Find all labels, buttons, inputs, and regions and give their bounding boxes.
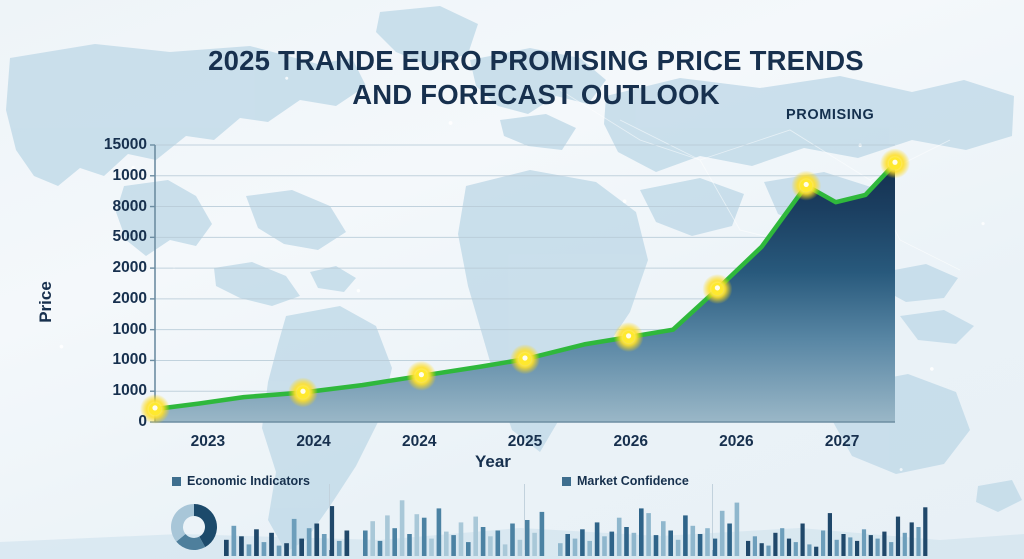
mini-bar: [451, 535, 456, 556]
mini-bar: [610, 532, 615, 556]
y-axis-tick-label: 0: [57, 413, 147, 431]
x-axis-title: Year: [475, 452, 511, 472]
y-axis-tick-label: 1000: [57, 167, 147, 185]
mini-bar: [314, 524, 319, 557]
mini-bar: [903, 533, 907, 556]
mini-bar: [329, 506, 334, 556]
donut-segment: [171, 504, 194, 542]
chart-svg: [0, 0, 1024, 470]
mini-bar: [565, 534, 570, 556]
mini-bar: [444, 532, 449, 556]
mini-bar: [814, 547, 818, 556]
mini-bar: [807, 544, 811, 556]
mini-bar: [720, 511, 725, 556]
infographic-root: 2025 TRANDE EURO PROMISING PRICE TRENDS …: [0, 0, 1024, 559]
mini-bar: [422, 518, 427, 556]
mini-bar: [835, 540, 839, 556]
footer-mini-chart: [746, 494, 936, 558]
marker-highlight: [626, 333, 631, 338]
mini-bar: [307, 528, 312, 556]
mini-bar: [661, 521, 666, 556]
mini-bar: [760, 543, 764, 556]
mini-bar: [882, 532, 886, 556]
mini-bar: [624, 527, 629, 556]
mini-bar: [466, 542, 471, 556]
mini-bar: [503, 544, 508, 556]
mini-bar: [378, 541, 383, 556]
mini-bar: [239, 536, 244, 556]
mini-bar: [262, 542, 267, 556]
legend-swatch-icon: [562, 477, 571, 486]
chart-legend-item[interactable]: Market Confidence: [562, 474, 689, 488]
footer-panel: Market Confidence: [540, 470, 730, 559]
data-point-marker[interactable]: [288, 377, 318, 407]
mini-bar: [821, 531, 825, 557]
mini-bar: [337, 541, 342, 556]
footer-mini-chart: [558, 494, 748, 558]
data-point-marker[interactable]: [510, 344, 540, 374]
mini-bar: [855, 541, 859, 556]
mini-bar: [828, 513, 832, 556]
mini-bar: [668, 531, 673, 557]
marker-highlight: [522, 355, 527, 360]
footer-divider: [712, 484, 713, 550]
mini-bar: [794, 542, 798, 556]
x-axis-tick-label: 2027: [792, 433, 892, 451]
x-axis-tick-label: 2025: [475, 433, 575, 451]
mini-bar: [753, 536, 757, 556]
x-axis-tick-label: 2024: [369, 433, 469, 451]
mini-bar: [532, 533, 537, 556]
mini-bar: [773, 533, 777, 556]
mini-bar: [801, 524, 805, 557]
data-point-marker[interactable]: [880, 148, 910, 178]
y-axis-tick-label: 2000: [57, 290, 147, 308]
marker-highlight: [152, 405, 157, 410]
mini-bar: [247, 544, 252, 556]
mini-bar: [385, 515, 390, 556]
mini-bar: [683, 515, 688, 556]
legend-swatch-icon: [172, 477, 181, 486]
mini-bar: [910, 522, 914, 556]
mini-bar: [400, 500, 405, 556]
mini-bar: [277, 546, 282, 556]
legend-label: Market Confidence: [577, 474, 689, 488]
mini-bar: [269, 533, 274, 556]
y-axis-tick-label: 2000: [57, 259, 147, 277]
y-axis-tick-label: 5000: [57, 228, 147, 246]
mini-bar: [518, 540, 523, 556]
area-fill: [155, 164, 895, 423]
y-axis-title: Price: [36, 242, 56, 362]
marker-highlight: [300, 389, 305, 394]
mini-bar: [617, 518, 622, 556]
mini-bar: [602, 536, 607, 556]
mini-bar: [481, 527, 486, 556]
mini-bar: [869, 535, 873, 556]
mini-bar: [363, 531, 368, 557]
mini-bar: [558, 543, 563, 556]
mini-bar: [889, 542, 893, 556]
mini-bar: [705, 528, 710, 556]
y-axis-tick-label: 1000: [57, 321, 147, 339]
mini-bar: [429, 539, 434, 556]
footer-stats-strip: Economic IndicatorsMarket Confidence: [0, 470, 1024, 559]
data-point-marker[interactable]: [791, 171, 821, 201]
mini-bar: [780, 528, 784, 556]
mini-bar: [766, 546, 770, 556]
marker-highlight: [804, 182, 809, 187]
mini-bar: [876, 539, 880, 556]
data-point-marker[interactable]: [702, 274, 732, 304]
marker-highlight: [892, 160, 897, 165]
data-point-marker[interactable]: [614, 322, 644, 352]
mini-bar: [746, 541, 750, 556]
y-axis-tick-label: 1000: [57, 351, 147, 369]
mini-bar: [573, 539, 578, 556]
mini-bar: [787, 539, 791, 556]
mini-bar: [580, 529, 585, 556]
footer-panel: [728, 470, 918, 559]
mini-bar: [848, 537, 852, 556]
mini-bar: [437, 508, 442, 556]
mini-bar: [713, 539, 718, 556]
footer-divider: [329, 484, 330, 550]
mini-bar: [459, 522, 464, 556]
data-point-marker[interactable]: [406, 361, 436, 391]
footer-divider: [524, 484, 525, 550]
mini-bar: [646, 513, 651, 556]
mini-bar: [232, 526, 237, 556]
chart-legend-item[interactable]: Economic Indicators: [172, 474, 310, 488]
mini-bar: [370, 521, 375, 556]
legend-label: Economic Indicators: [187, 474, 310, 488]
mini-bar: [691, 526, 696, 556]
y-axis-tick-label: 15000: [57, 136, 147, 154]
mini-bar: [473, 517, 478, 556]
footer-panel: Economic Indicators: [150, 470, 340, 559]
mini-bar: [654, 535, 659, 556]
x-axis-tick-label: 2023: [158, 433, 258, 451]
mini-bar: [299, 539, 304, 556]
mini-bar: [595, 522, 600, 556]
price-trend-chart: 01000100010002000200050008000100015000 2…: [0, 0, 1024, 470]
mini-bar: [224, 540, 229, 556]
mini-bar: [496, 531, 501, 557]
mini-bar: [322, 534, 327, 556]
mini-bar: [292, 519, 297, 556]
mini-bar: [510, 524, 515, 557]
mini-bar: [916, 527, 920, 556]
mini-bar: [254, 529, 259, 556]
y-axis-tick-label: 1000: [57, 382, 147, 400]
mini-bar: [639, 508, 644, 556]
mini-bar: [923, 507, 927, 556]
mini-bar: [896, 517, 900, 556]
x-axis-tick-label: 2026: [686, 433, 786, 451]
mini-bar: [284, 543, 289, 556]
x-axis-tick-label: 2026: [581, 433, 681, 451]
mini-bar: [407, 534, 412, 556]
footer-panel: [345, 470, 535, 559]
marker-highlight: [715, 285, 720, 290]
mini-bar: [415, 514, 420, 556]
mini-bar: [587, 541, 592, 556]
mini-bar: [632, 533, 637, 556]
mini-bar: [698, 534, 703, 556]
mini-bar: [862, 529, 866, 556]
mini-bar: [841, 534, 845, 556]
y-axis-tick-label: 8000: [57, 198, 147, 216]
x-axis-tick-label: 2024: [264, 433, 364, 451]
mini-bar: [392, 528, 397, 556]
mini-bar: [488, 536, 493, 556]
marker-highlight: [419, 372, 424, 377]
mini-bar: [676, 540, 681, 556]
mini-bar: [525, 520, 530, 556]
